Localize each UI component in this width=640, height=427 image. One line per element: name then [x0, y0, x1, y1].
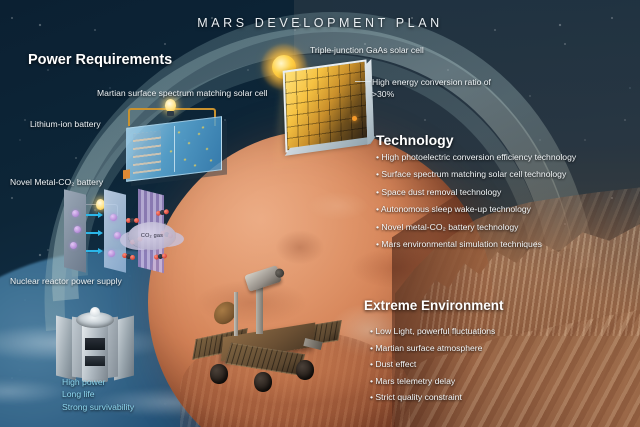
label-lithium-battery: Lithium-ion battery [30, 119, 101, 129]
rover-antenna-mast [234, 292, 238, 336]
metal-ion [74, 226, 81, 233]
ion-flow-arrow [86, 214, 99, 216]
list-item: • Space dust removal technology [376, 187, 576, 197]
section-heading-environment: Extreme Environment [364, 298, 504, 313]
label-solar-cell: Martian surface spectrum matching solar … [97, 88, 268, 98]
ion-flow-arrow [86, 232, 99, 234]
lithium-battery-terminal [123, 169, 130, 179]
solar-panel-icon [283, 59, 370, 152]
metal-ion [110, 214, 117, 221]
label-conversion-ratio: High energy conversion ratio of >30% [372, 76, 492, 101]
list-item: Long life [62, 388, 134, 400]
solar-panel-connector [352, 116, 357, 121]
metal-ion [108, 250, 115, 257]
metal-co2-electrolyte-plate [104, 189, 126, 272]
section-heading-power: Power Requirements [28, 52, 172, 68]
list-item: • High photoelectric conversion efficien… [376, 152, 576, 162]
technology-bullet-list: • High photoelectric conversion efficien… [376, 152, 576, 256]
environment-bullet-list: • Low Light, powerful fluctuations • Mar… [370, 326, 495, 409]
ion-flow-arrow [86, 250, 99, 252]
lithium-ions [127, 117, 221, 181]
list-item: • Mars environmental simulation techniqu… [376, 239, 576, 249]
rover-camera-head [244, 265, 282, 292]
list-item: • Mars telemetry delay [370, 376, 495, 386]
label-metal-co2-battery: Novel Metal-CO₂ battery [10, 177, 103, 187]
rover-camera-mast [256, 282, 263, 334]
list-item: • Low Light, powerful fluctuations [370, 326, 495, 336]
light-bulb-base [167, 111, 174, 116]
list-item: • Dust effect [370, 359, 495, 369]
mars-development-plan-poster: CO₂ gas MARS DEVELOPMENT PLAN Power Requ… [0, 0, 640, 427]
co2-gas-label: CO₂ gas [128, 222, 176, 250]
leader-line-conversion [355, 81, 371, 82]
reactor-benefits-list: High power Long life Strong survivabilit… [62, 376, 134, 413]
reactor-core [82, 324, 108, 382]
rover-wheel [296, 360, 314, 380]
co2-molecule [156, 209, 170, 217]
page-title: MARS DEVELOPMENT PLAN [0, 16, 640, 30]
rover-wheel [254, 372, 272, 392]
rover-antenna-dish [214, 300, 236, 327]
metal-ion [114, 232, 121, 239]
list-item: • Autonomous sleep wake-up technology [376, 204, 576, 214]
co2-gas-cloud: CO₂ gas [128, 222, 176, 250]
list-item: • Strict quality constraint [370, 392, 495, 402]
list-item: Strong survivability [62, 401, 134, 413]
mars-rover-icon [198, 268, 338, 393]
metal-ion [70, 242, 77, 249]
list-item: • Novel metal-CO₂ battery technology [376, 222, 576, 232]
metal-ion [72, 210, 79, 217]
section-heading-technology: Technology [376, 132, 454, 148]
list-item: • Martian surface atmosphere [370, 343, 495, 353]
co2-molecule [154, 253, 168, 261]
label-triple-junction: Triple-junction GaAs solar cell [310, 45, 424, 55]
list-item: High power [62, 376, 134, 388]
list-item: • Surface spectrum matching solar cell t… [376, 169, 576, 179]
reactor-dish [76, 312, 114, 328]
label-nuclear-reactor: Nuclear reactor power supply [10, 276, 122, 286]
rover-wheel [210, 364, 228, 384]
